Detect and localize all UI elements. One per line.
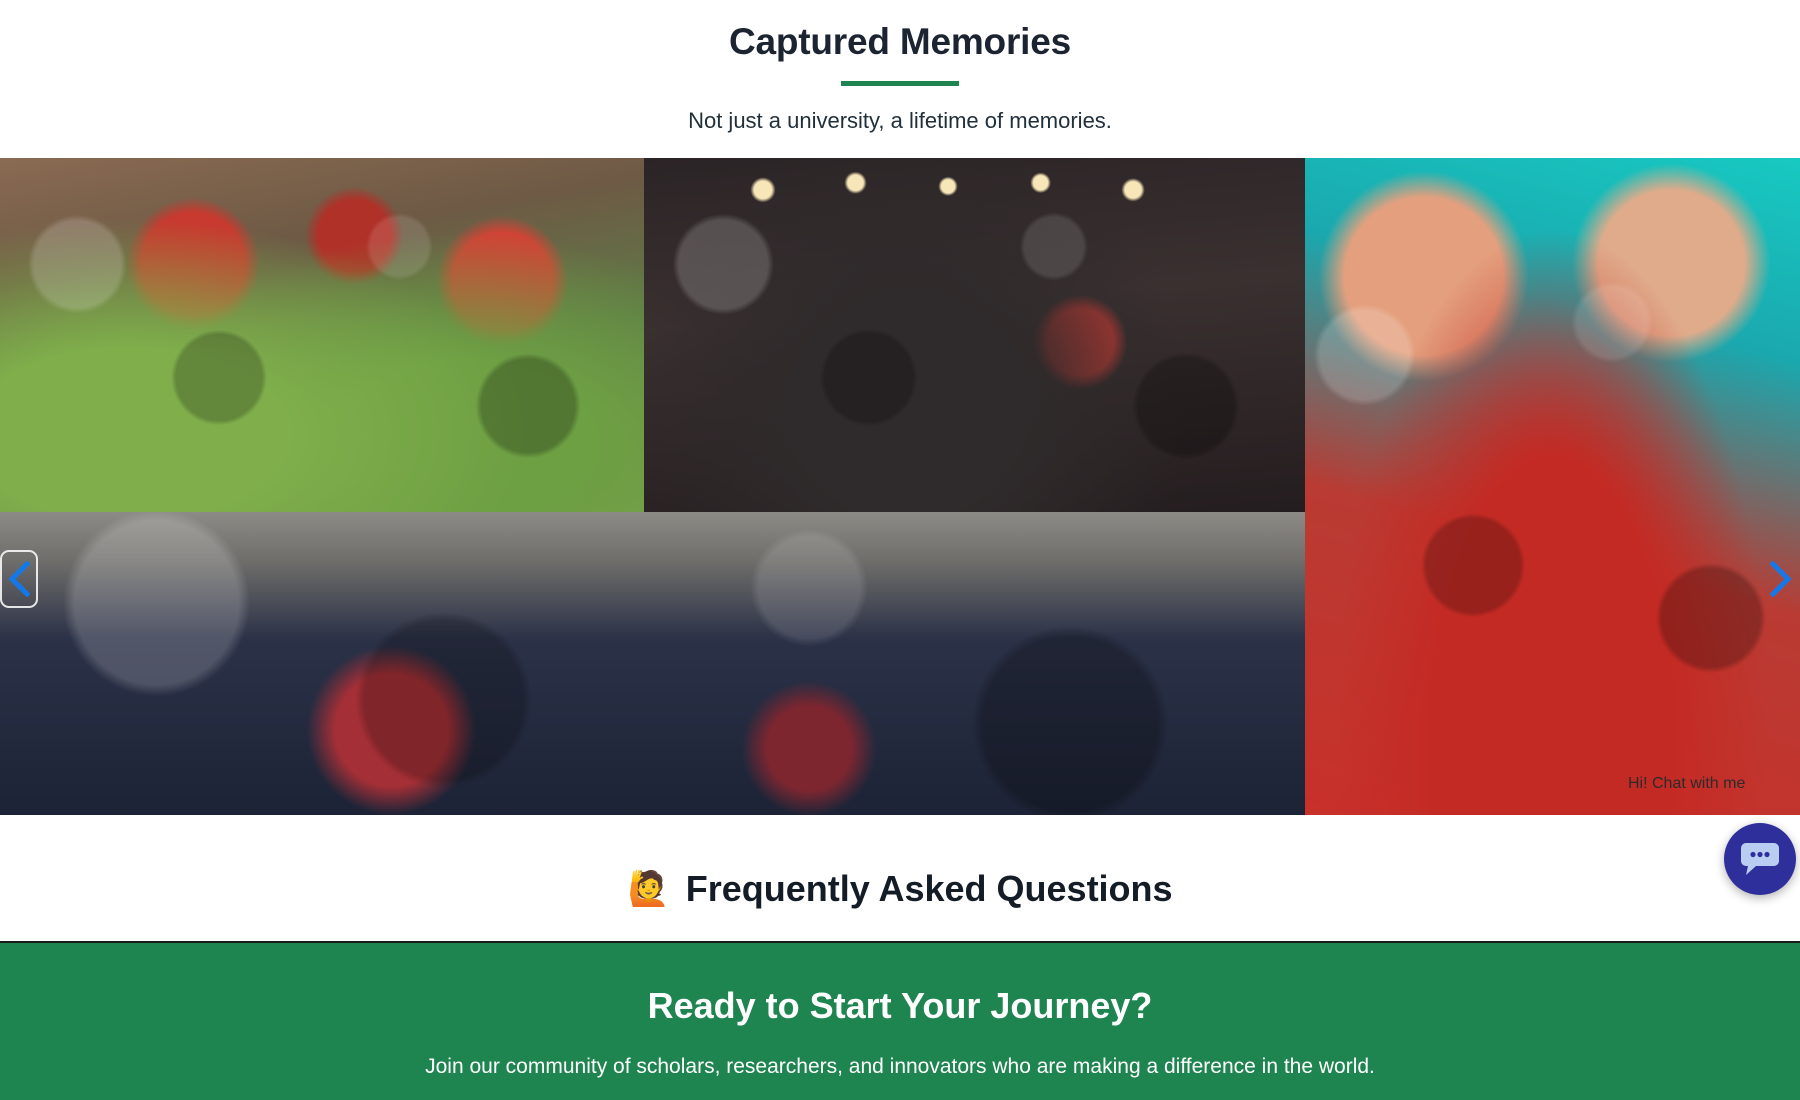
chat-widget-prompt: Hi! Chat with me [1628, 775, 1745, 793]
faq-section: 🙋 Frequently Asked Questions [0, 815, 1800, 943]
cta-title: Ready to Start Your Journey? [0, 943, 1800, 1027]
gallery-photo[interactable] [644, 158, 1305, 512]
chevron-right-icon [1770, 561, 1792, 597]
cta-section: Ready to Start Your Journey? Join our co… [0, 943, 1800, 1100]
raising-hand-icon: 🙋 [627, 869, 669, 909]
faq-heading: 🙋 Frequently Asked Questions [627, 846, 1172, 910]
gallery-photo[interactable] [0, 512, 1305, 815]
page-title: Captured Memories [0, 22, 1800, 63]
chevron-left-icon [8, 561, 30, 597]
carousel-next-button[interactable] [1762, 550, 1800, 608]
gallery-header: Captured Memories Not just a university,… [0, 0, 1800, 134]
faq-heading-text: Frequently Asked Questions [686, 868, 1173, 910]
title-underline-rule [841, 81, 959, 86]
chat-bubble-icon [1740, 841, 1780, 877]
gallery-subtitle: Not just a university, a lifetime of mem… [0, 108, 1800, 134]
chat-widget-button[interactable] [1724, 823, 1796, 895]
gallery-photo[interactable] [1305, 158, 1800, 815]
cta-subtitle: Join our community of scholars, research… [0, 1055, 1800, 1079]
gallery-photo[interactable] [0, 158, 644, 512]
photo-grid [0, 158, 1800, 815]
page-root: Captured Memories Not just a university,… [0, 0, 1800, 1100]
photo-carousel[interactable] [0, 158, 1800, 815]
carousel-prev-button[interactable] [0, 550, 38, 608]
